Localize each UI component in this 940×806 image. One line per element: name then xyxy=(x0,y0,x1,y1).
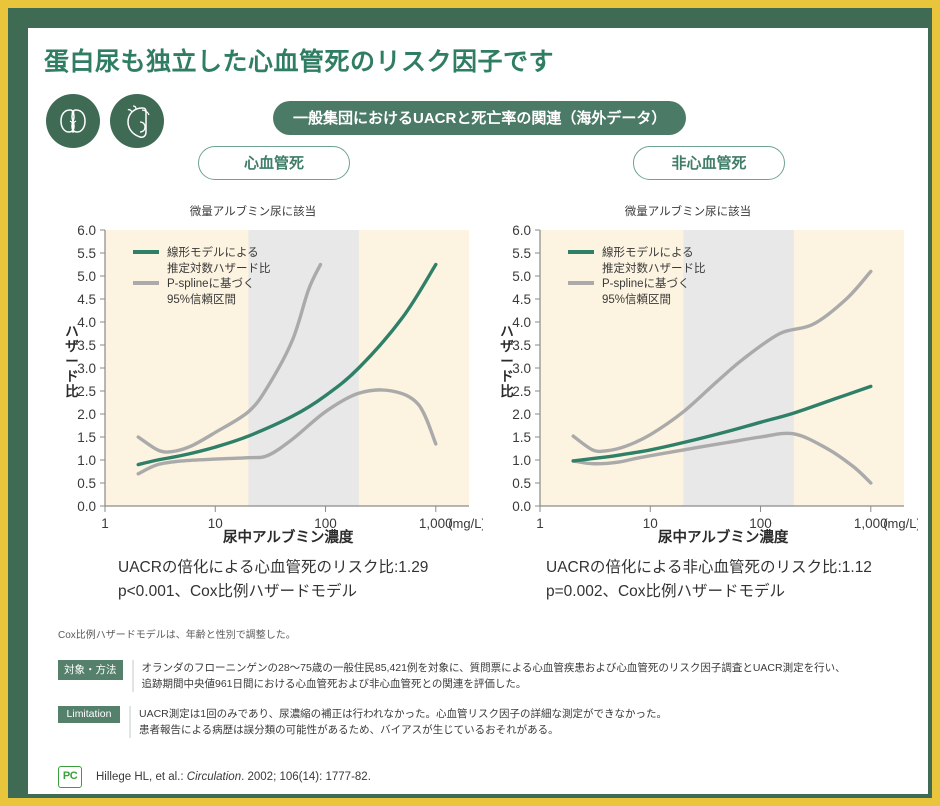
conclusion-right-line1: UACRの倍化による非心血管死のリスク比:1.12 xyxy=(546,556,872,580)
citation-authors: Hillege HL, et al.: xyxy=(96,771,187,783)
cv-y-tick-label: 1.0 xyxy=(77,453,96,468)
chart-noncardiovascular-death: 0.00.51.01.52.02.53.03.54.04.55.05.56.01… xyxy=(488,218,918,548)
kidney-icon xyxy=(46,94,100,148)
cv-legend-label-model: 線形モデルによる xyxy=(167,245,259,259)
noncv-y-tick-label: 1.5 xyxy=(512,430,531,445)
microalbuminuria-note-left: 微量アルブミン尿に該当 xyxy=(133,203,373,219)
cv-legend-label-ci: 95%信頼区間 xyxy=(167,293,236,306)
cv-y-tick-label: 1.5 xyxy=(77,430,96,445)
cv-legend-label-ci: P-splineに基づく xyxy=(167,277,255,290)
chart-cardiovascular-death: 0.00.51.01.52.02.53.03.54.04.55.05.56.01… xyxy=(53,218,483,548)
footnote-limitation-line1: UACR測定は1回のみであり、尿濃縮の補正は行われなかった。心血管リスク因子の詳… xyxy=(139,706,667,722)
slide-inner-frame: 蛋白尿も独立した心血管死のリスク因子です 一般集団におけるUACRと死亡率の関連… xyxy=(8,8,932,798)
microalbuminuria-note-right: 微量アルブミン尿に該当 xyxy=(568,203,808,219)
conclusion-left: UACRの倍化による心血管死のリスク比:1.29 p<0.001、Cox比例ハザ… xyxy=(118,556,428,604)
noncv-x-tick-label: 10 xyxy=(643,516,658,531)
cv-y-tick-label: 2.0 xyxy=(77,407,96,422)
cv-legend-label-model: 推定対数ハザード比 xyxy=(167,261,271,275)
noncv-y-tick-label: 0.0 xyxy=(512,499,531,514)
noncv-svg: 0.00.51.01.52.02.53.03.54.04.55.05.56.01… xyxy=(488,218,918,548)
footnote-body-method: オランダのフローニンゲンの28〜75歳の一般住民85,421例を対象に、質問票に… xyxy=(132,660,846,692)
cv-y-tick-label: 0.5 xyxy=(77,476,96,491)
slide-outer-border: 蛋白尿も独立した心血管死のリスク因子です 一般集団におけるUACRと死亡率の関連… xyxy=(0,0,940,806)
x-axis-label-left: 尿中アルブミン濃度 xyxy=(223,526,353,547)
citation-row: PCHillege HL, et al.: Circulation. 2002;… xyxy=(58,766,371,788)
cv-y-tick-label: 5.5 xyxy=(77,246,96,261)
footnote-limitation: Limitation UACR測定は1回のみであり、尿濃縮の補正は行われなかった… xyxy=(58,706,667,738)
cv-y-tick-label: 5.0 xyxy=(77,269,96,284)
cv-y-tick-label: 4.0 xyxy=(77,315,96,330)
cv-y-tick-label: 3.5 xyxy=(77,338,96,353)
noncv-x-unit-label: (mg/L) xyxy=(883,516,918,531)
conclusion-right-line2: p=0.002、Cox比例ハザードモデル xyxy=(546,580,872,604)
noncv-legend-label-ci: P-splineに基づく xyxy=(602,277,690,290)
noncv-y-tick-label: 2.5 xyxy=(512,384,531,399)
noncv-y-tick-label: 6.0 xyxy=(512,223,531,238)
panel-pill-cardiovascular: 心血管死 xyxy=(198,146,350,180)
adjustment-note: Cox比例ハザードモデルは、年齢と性別で調整した。 xyxy=(58,626,296,641)
footnote-tag-limitation: Limitation xyxy=(58,706,120,723)
footnote-method: 対象・方法 オランダのフローニンゲンの28〜75歳の一般住民85,421例を対象… xyxy=(58,660,846,692)
noncv-y-tick-label: 3.0 xyxy=(512,361,531,376)
slide-page: 蛋白尿も独立した心血管死のリスク因子です 一般集団におけるUACRと死亡率の関連… xyxy=(28,28,928,794)
cv-y-tick-label: 4.5 xyxy=(77,292,96,307)
citation-rest: . 2002; 106(14): 1777-82. xyxy=(241,771,371,783)
cv-x-tick-label: 10 xyxy=(208,516,223,531)
noncv-y-tick-label: 5.5 xyxy=(512,246,531,261)
noncv-legend-label-ci: 95%信頼区間 xyxy=(602,293,671,306)
conclusion-left-line1: UACRの倍化による心血管死のリスク比:1.29 xyxy=(118,556,428,580)
noncv-y-tick-label: 2.0 xyxy=(512,407,531,422)
cv-x-tick-label: 1 xyxy=(101,516,109,531)
conclusion-right: UACRの倍化による非心血管死のリスク比:1.12 p=0.002、Cox比例ハ… xyxy=(546,556,872,604)
cv-y-tick-label: 2.5 xyxy=(77,384,96,399)
noncv-y-tick-label: 5.0 xyxy=(512,269,531,284)
noncv-legend-label-model: 線形モデルによる xyxy=(602,245,694,259)
cv-y-tick-label: 0.0 xyxy=(77,499,96,514)
footnote-method-line1: オランダのフローニンゲンの28〜75歳の一般住民85,421例を対象に、質問票に… xyxy=(142,660,846,676)
panel-pill-noncardiovascular: 非心血管死 xyxy=(633,146,785,180)
noncv-y-tick-label: 1.0 xyxy=(512,453,531,468)
footnote-tag-method: 対象・方法 xyxy=(58,660,123,680)
noncv-y-tick-label: 4.5 xyxy=(512,292,531,307)
conclusion-left-line2: p<0.001、Cox比例ハザードモデル xyxy=(118,580,428,604)
x-axis-label-right: 尿中アルブミン濃度 xyxy=(658,526,788,547)
cv-y-tick-label: 6.0 xyxy=(77,223,96,238)
noncv-y-tick-label: 3.5 xyxy=(512,338,531,353)
cv-x-unit-label: (mg/L) xyxy=(448,516,483,531)
footnote-body-limitation: UACR測定は1回のみであり、尿濃縮の補正は行われなかった。心血管リスク因子の詳… xyxy=(129,706,667,738)
header-pill: 一般集団におけるUACRと死亡率の関連（海外データ） xyxy=(273,101,686,135)
footnote-limitation-line2: 患者報告による病歴は誤分類の可能性があるため、バイアスが生じているおそれがある。 xyxy=(139,722,667,738)
noncv-y-tick-label: 4.0 xyxy=(512,315,531,330)
cv-svg: 0.00.51.01.52.02.53.03.54.04.55.05.56.01… xyxy=(53,218,483,548)
citation-text: Hillege HL, et al.: Circulation. 2002; 1… xyxy=(96,771,371,783)
footnote-method-line2: 追跡期間中央値961日間における心血管死および非心血管死との関連を評価した。 xyxy=(142,676,846,692)
citation-journal: Circulation xyxy=(187,771,241,783)
noncv-x-tick-label: 1 xyxy=(536,516,544,531)
noncv-legend-label-model: 推定対数ハザード比 xyxy=(602,261,706,275)
page-title: 蛋白尿も独立した心血管死のリスク因子です xyxy=(44,42,554,78)
cv-y-tick-label: 3.0 xyxy=(77,361,96,376)
heart-icon xyxy=(110,94,164,148)
pc-logo-icon: PC xyxy=(58,766,82,788)
noncv-y-tick-label: 0.5 xyxy=(512,476,531,491)
